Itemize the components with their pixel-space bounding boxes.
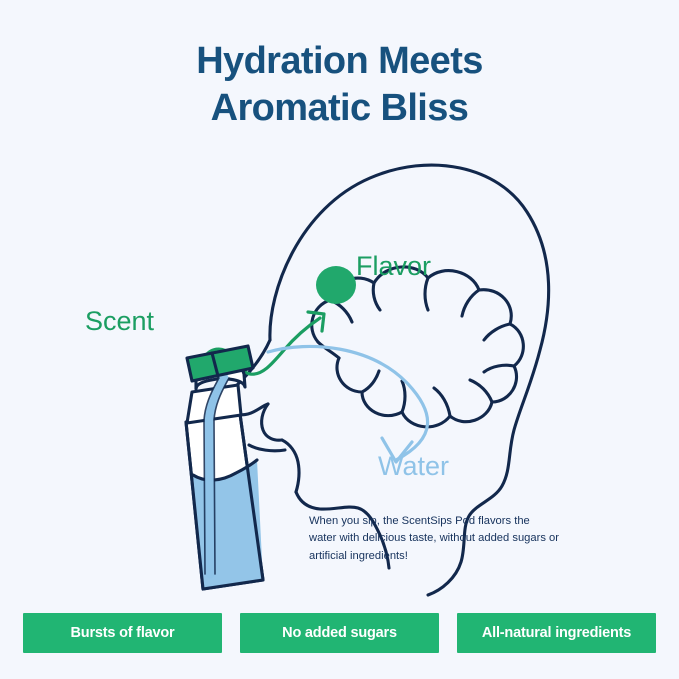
page-title-line-2: Aromatic Bliss <box>0 85 679 132</box>
page-title-line-1: Hydration Meets <box>0 38 679 85</box>
page-title: Hydration Meets Aromatic Bliss <box>0 38 679 132</box>
badge-bursts-of-flavor[interactable]: Bursts of flavor <box>23 613 222 653</box>
badge-all-natural-ingredients[interactable]: All-natural ingredients <box>457 613 656 653</box>
label-scent: Scent <box>85 306 155 336</box>
feature-badges: Bursts of flavor No added sugars All-nat… <box>23 613 656 653</box>
flavor-dot-icon <box>316 266 356 304</box>
badge-no-added-sugars[interactable]: No added sugars <box>240 613 439 653</box>
infographic-canvas: Hydration Meets Aromatic Bliss <box>0 0 679 679</box>
water-bottle-icon <box>186 364 263 589</box>
body-copy: When you sip, the ScentSips Pod flavors … <box>309 513 559 565</box>
label-water: Water <box>378 451 449 481</box>
label-flavor: Flavor <box>356 251 431 281</box>
